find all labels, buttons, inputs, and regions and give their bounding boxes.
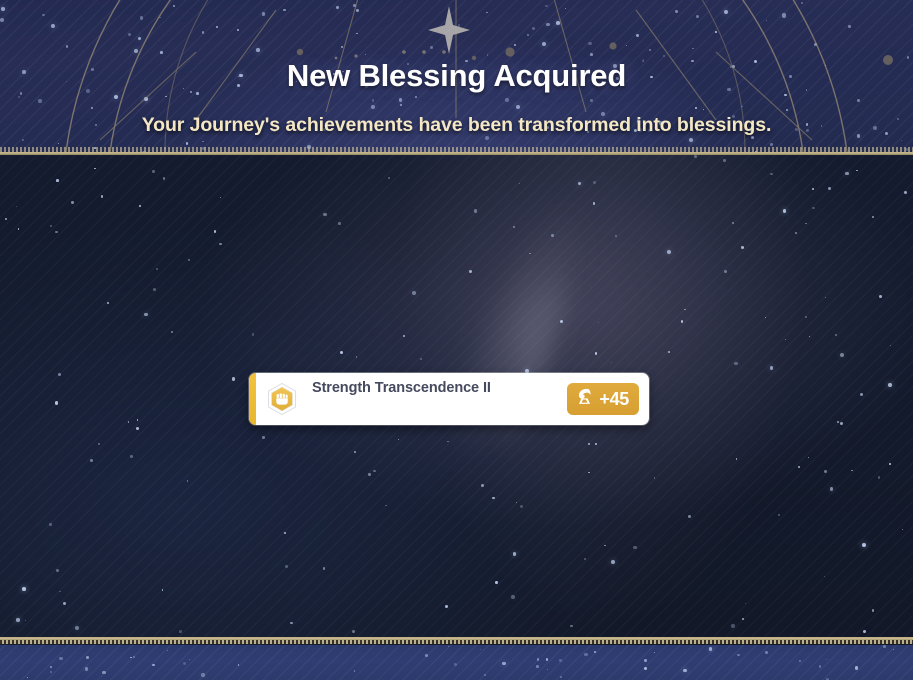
reward-amount: +45: [599, 390, 629, 409]
footer-bar: [0, 645, 913, 680]
footer-starfield: [0, 645, 913, 680]
blessing-acquired-screen: New Blessing Acquired Your Journey's ach…: [0, 0, 913, 680]
blessing-icon: [265, 382, 299, 416]
header-divider: [0, 147, 913, 156]
currency-spiral-icon: [574, 386, 595, 412]
header-banner: New Blessing Acquired Your Journey's ach…: [0, 0, 913, 152]
reward-badge: +45: [567, 383, 639, 415]
page-title: New Blessing Acquired: [0, 58, 913, 94]
four-point-star-icon: [428, 6, 470, 54]
blessing-card[interactable]: Strength Transcendence II +45: [249, 373, 649, 425]
footer-dotted-line: [0, 640, 913, 644]
blessing-name: Strength Transcendence II: [312, 377, 560, 399]
card-accent-stripe: [249, 373, 256, 425]
page-subtitle: Your Journey's achievements have been tr…: [0, 114, 913, 137]
divider-gold-line: [0, 152, 913, 155]
